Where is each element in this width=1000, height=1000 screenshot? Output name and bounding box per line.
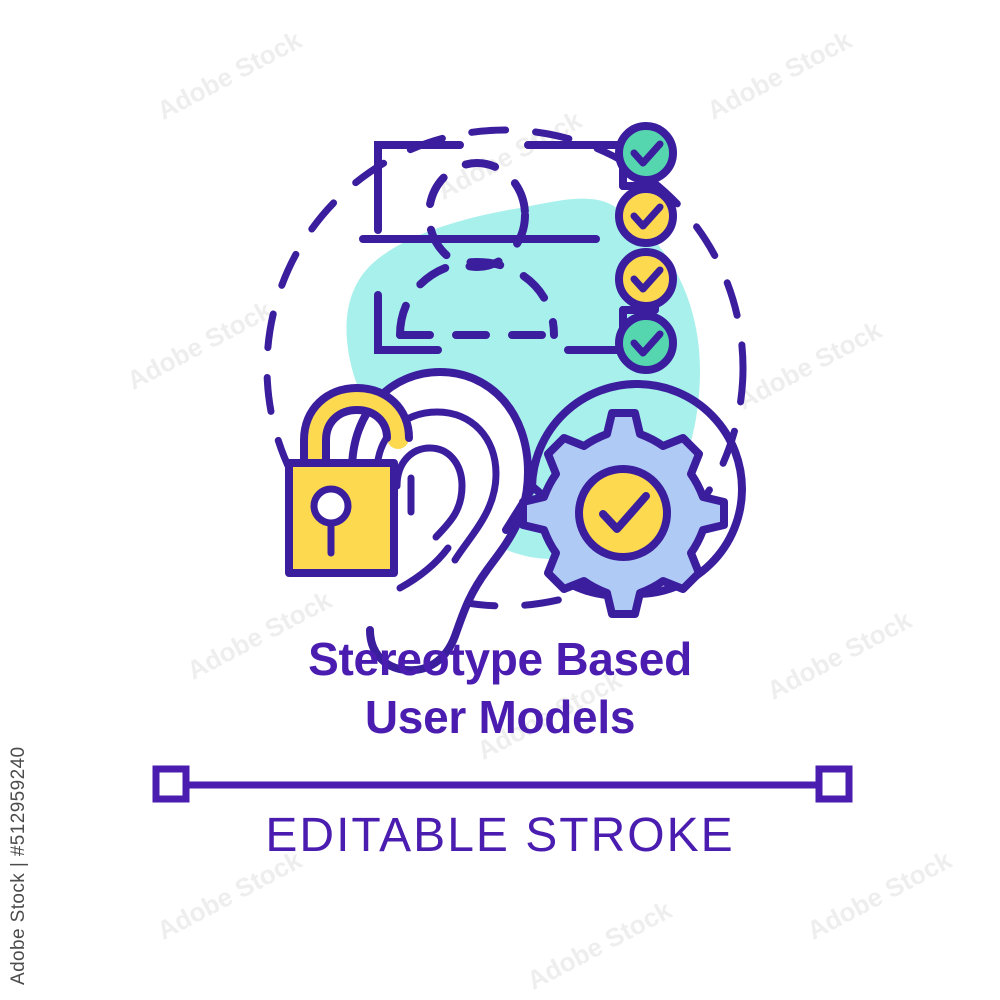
title-line-2: User Models	[0, 688, 1000, 746]
unlocked-padlock-icon	[289, 388, 409, 573]
check-badge-1	[619, 126, 673, 180]
concept-icon-canvas: Adobe Stock Adobe Stock Adobe Stock Adob…	[0, 0, 1000, 1000]
editable-stroke-bar[interactable]	[156, 769, 849, 799]
adobe-stock-watermark: Adobe Stock | #512959240	[8, 735, 42, 985]
stroke-handle-right	[819, 769, 849, 799]
check-badge-2	[619, 189, 673, 243]
gear-check-badge	[579, 469, 667, 557]
title-line-1: Stereotype Based	[0, 630, 1000, 688]
check-badge-4	[619, 316, 673, 370]
concept-title: Stereotype Based User Models	[0, 630, 1000, 746]
editable-stroke-caption: EDITABLE STROKE	[0, 808, 1000, 863]
check-badge-3	[619, 252, 673, 306]
stroke-handle-left	[156, 769, 186, 799]
